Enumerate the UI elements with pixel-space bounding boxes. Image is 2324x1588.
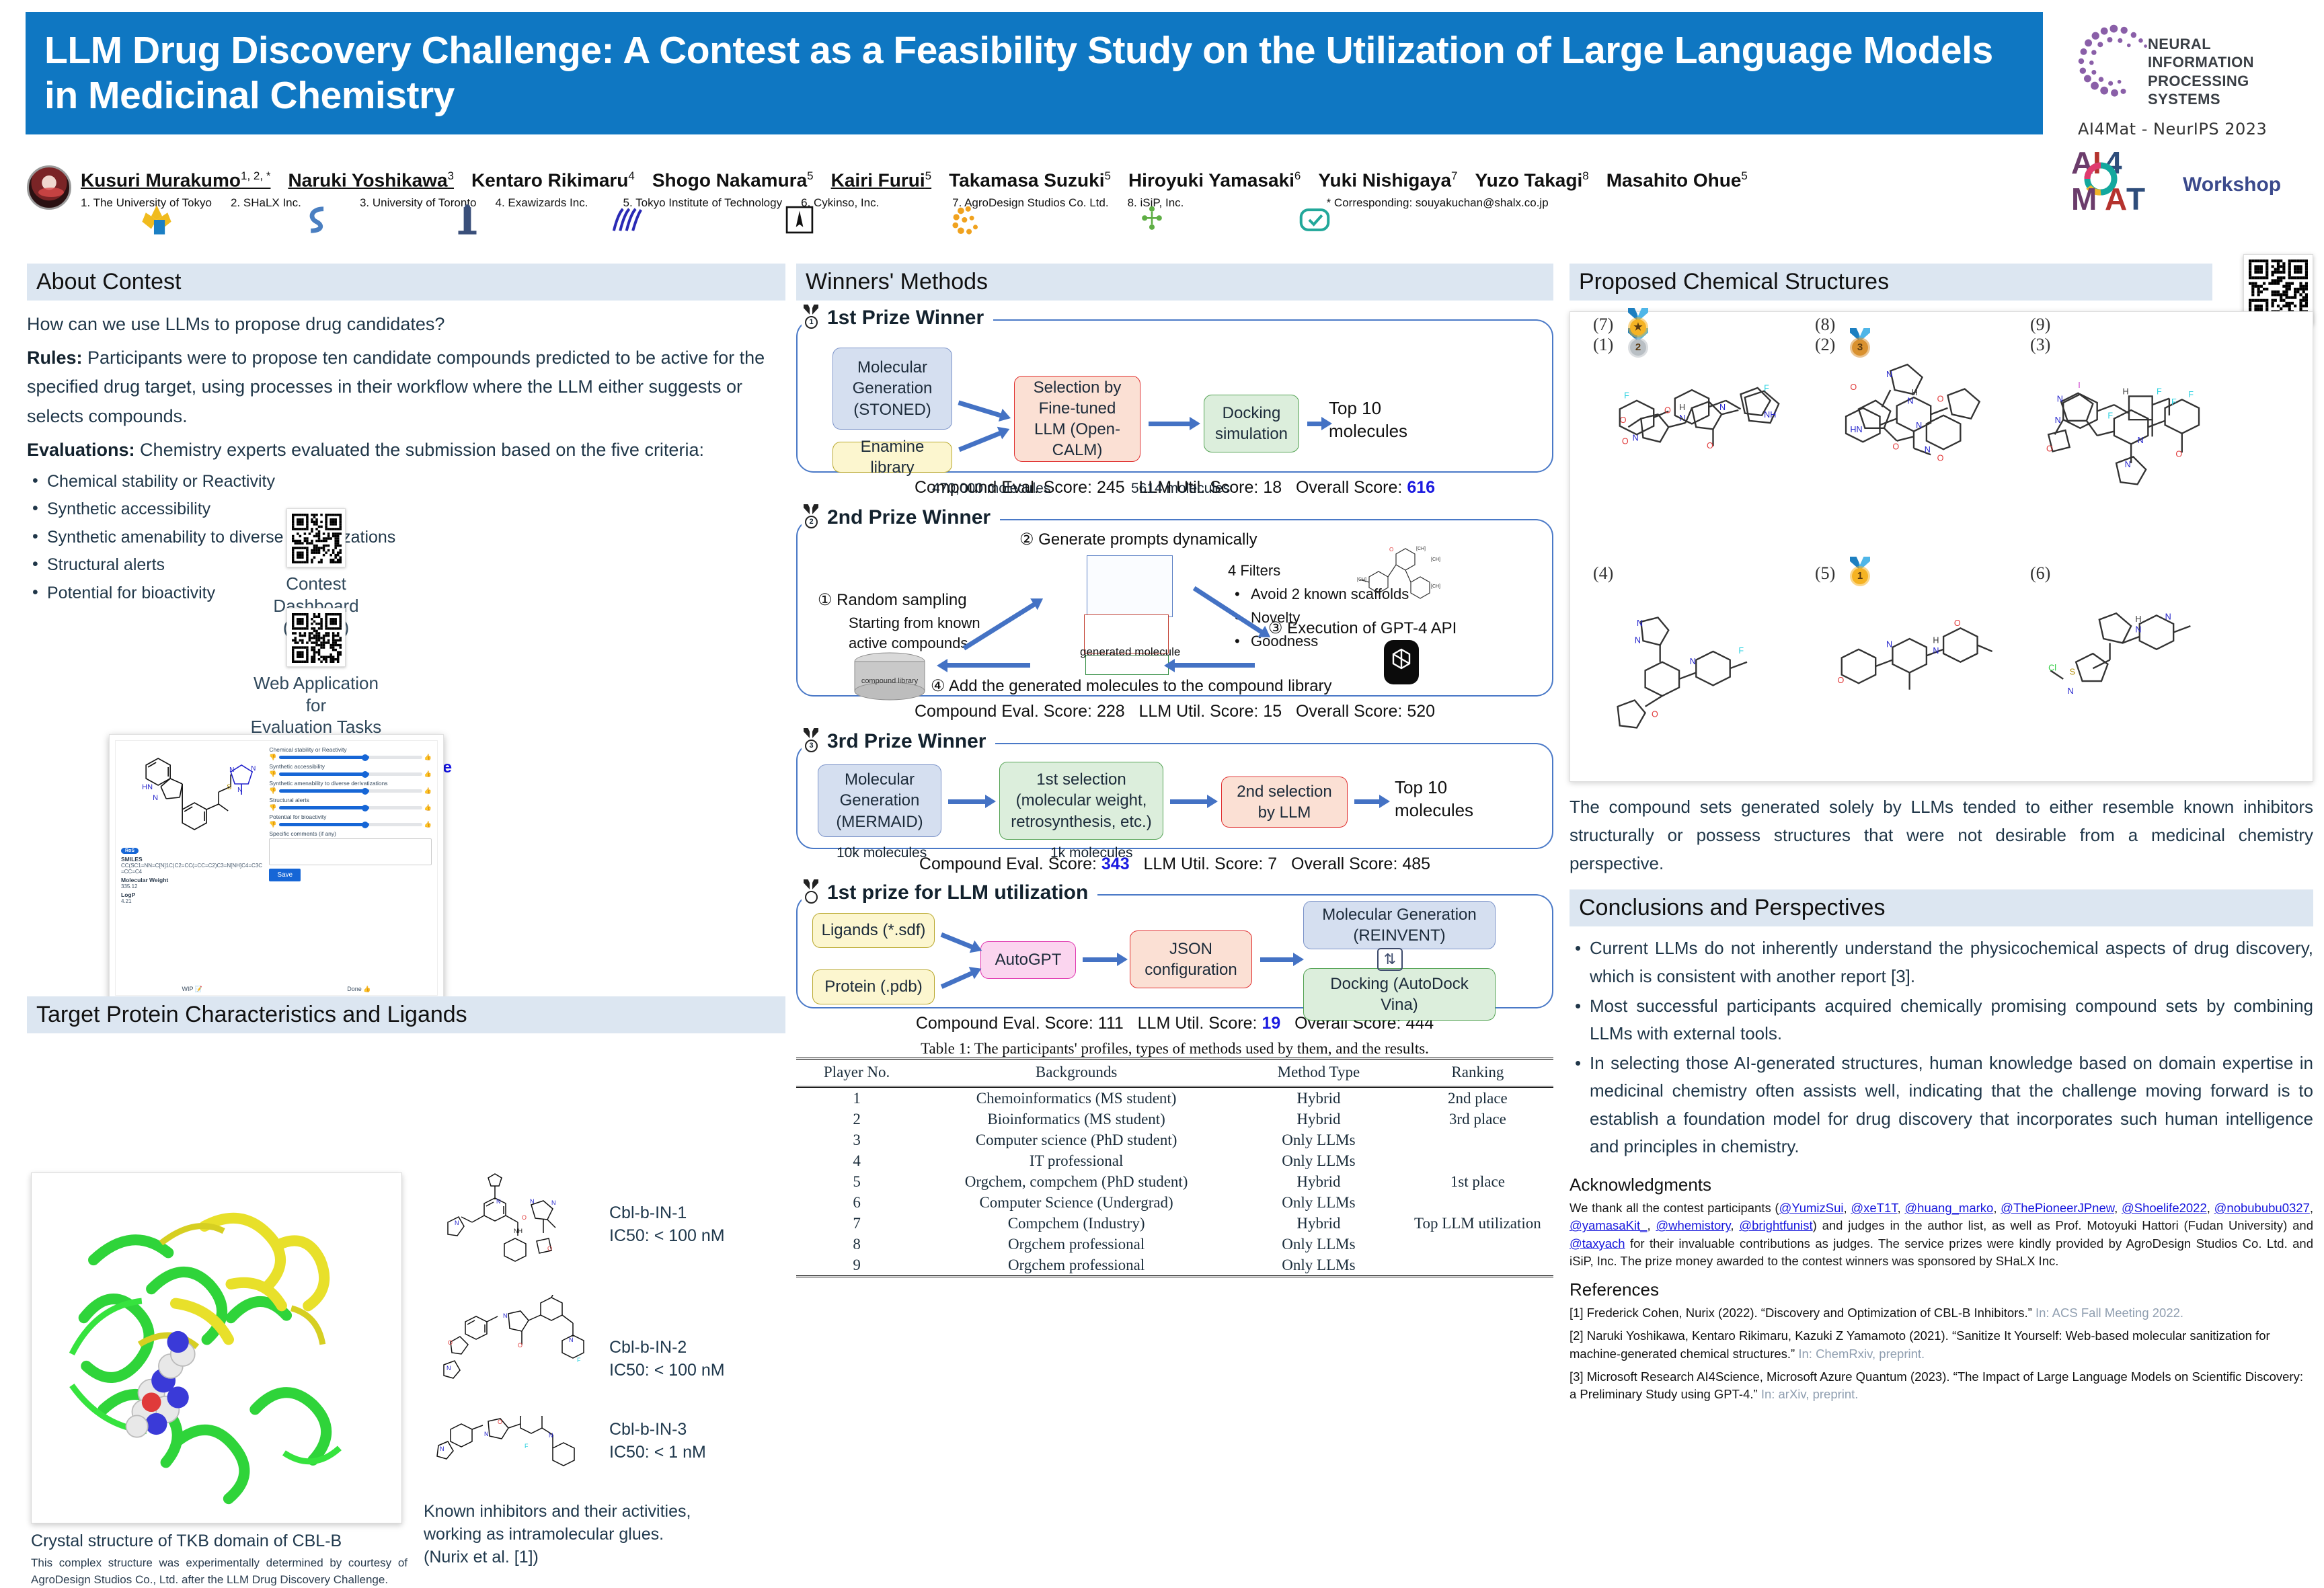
table-cell: 1: [796, 1087, 917, 1109]
qr2-caption-line1: Web Application for: [249, 672, 383, 716]
ligand-2-label: Cbl-b-IN-2IC50: < 100 nM: [609, 1337, 725, 1382]
third-prize-title: 3rd Prize Winner: [827, 730, 986, 753]
structure-label: (8): [1815, 315, 1835, 335]
exawizards-logo-icon: [607, 202, 643, 238]
table-cell: [1402, 1150, 1553, 1171]
svg-text:O: O: [448, 1339, 453, 1346]
table-caption: Table 1: The participants' profiles, typ…: [796, 1040, 1553, 1058]
table-cell: [1402, 1192, 1553, 1213]
table-column-header: Player No.: [796, 1059, 917, 1087]
flow-enamine-library: Enamine library: [832, 442, 952, 473]
agrodesign-logo-icon: [1134, 202, 1170, 238]
svg-text:M: M: [2071, 182, 2097, 216]
author-name: Shogo Nakamura5: [652, 169, 814, 191]
criterion-item: Synthetic amenability to diverse derivat…: [27, 524, 785, 552]
table-cell: Orgchem professional: [917, 1234, 1235, 1255]
table-cell: 3rd place: [1402, 1109, 1553, 1129]
table-cell: 2: [796, 1109, 917, 1129]
workshop-line: AI4Mat - NeurIPS 2023: [2078, 120, 2267, 138]
generated-molecule-label: generated molecule: [1080, 645, 1180, 659]
evaluation-app-screenshot: HN N S N N N RoS SMILES CC(SC1=NN=C[N]1C…: [109, 734, 444, 1002]
svg-text:N: N: [1633, 434, 1639, 443]
table-cell: Only LLMs: [1235, 1192, 1402, 1213]
proposed-structures-grid: (1)2 O O H N O N F(2)3 H N O N O(3) N N …: [1570, 311, 2313, 782]
flow-molecular-generation: Molecular Generation (STONED): [832, 348, 952, 430]
svg-text:HN: HN: [142, 783, 153, 791]
svg-text:N: N: [153, 794, 158, 802]
protein-caption-title: Crystal structure of TKB domain of CBL-B: [31, 1532, 408, 1551]
table-cell: 7: [796, 1213, 917, 1234]
svg-text:N: N: [1933, 646, 1939, 656]
svg-text:compound library: compound library: [861, 677, 919, 685]
table-cell: Top LLM utilization: [1402, 1213, 1553, 1234]
table-cell: Computer science (PhD student): [917, 1129, 1235, 1150]
smiles-value: CC(SC1=NN=C[N]1C)C2=CC(=CC=C2)C3=N[NH]C4…: [121, 863, 265, 875]
twitter-handle[interactable]: @YumizSui: [1779, 1201, 1844, 1215]
wip-action[interactable]: WIP 📝: [182, 986, 203, 993]
svg-text:NH: NH: [1764, 410, 1776, 420]
table-cell: Bioinformatics (MS student): [917, 1109, 1235, 1129]
structure-depiction: N H N O O: [1831, 597, 2011, 756]
thumbs-down-icon: 👎: [269, 770, 276, 778]
twitter-handle[interactable]: @xeT1T: [1851, 1201, 1897, 1215]
thumbs-up-icon: 👍: [424, 787, 432, 795]
neurips-logo-text: NEURAL INFORMATIONPROCESSING SYSTEMS: [2148, 35, 2315, 108]
structure-label: (9): [2030, 315, 2050, 335]
table-row: 3Computer science (PhD student)Only LLMs: [796, 1129, 1553, 1150]
criterion-label: Potential for bioactivity: [269, 813, 432, 820]
table-row: 7Compchem (Industry)HybridTop LLM utiliz…: [796, 1213, 1553, 1234]
criterion-item: Structural alerts: [27, 551, 785, 580]
rating-slider[interactable]: 👎👍: [269, 822, 432, 827]
table-cell: 6: [796, 1192, 917, 1213]
table-cell: Chemoinformatics (MS student): [917, 1087, 1235, 1109]
table-cell: [1402, 1234, 1553, 1255]
structure-depiction: O N F NH: [1609, 348, 1789, 507]
third-prize-block: 3 3rd Prize Winner Molecular Generation …: [796, 728, 1553, 874]
first-note-left: 470,000 molecules: [932, 481, 1050, 497]
structure-depiction: N N N F O: [1609, 597, 1789, 756]
page-title: LLM Drug Discovery Challenge: A Contest …: [44, 28, 2024, 118]
author-name: Naruki Yoshikawa3: [288, 169, 454, 191]
author-name: Masahito Ohue5: [1606, 169, 1748, 191]
filters-title: 4 Filters: [1228, 562, 1280, 580]
webapp-qr[interactable]: [286, 608, 346, 667]
step-1-subtext: Starting from knownactive compounds: [849, 613, 980, 653]
table-cell: 2nd place: [1402, 1087, 1553, 1109]
svg-text:HN: HN: [1850, 425, 1862, 434]
table-cell: [1402, 1129, 1553, 1150]
titech-logo-icon: [781, 202, 818, 238]
svg-text:H: H: [2123, 387, 2129, 396]
svg-text:O: O: [547, 1245, 552, 1252]
third-note-left: 10k molecules: [837, 845, 927, 861]
svg-text:O: O: [1837, 676, 1844, 685]
table-row: 6Computer Science (Undergrad)Only LLMs: [796, 1192, 1553, 1213]
cycle-icon: ⇅: [1377, 948, 1403, 971]
criterion-item: Chemical stability or Reactivity: [27, 468, 785, 496]
conclusion-item: In selecting those AI-generated structur…: [1570, 1049, 2313, 1161]
structures-heading: Proposed Chemical Structures: [1570, 264, 2212, 301]
ligand-1-label: Cbl-b-IN-1IC50: < 100 nM: [609, 1202, 725, 1248]
table-cell: Compchem (Industry): [917, 1213, 1235, 1234]
workshop-label: Workshop: [2183, 173, 2281, 196]
svg-text:N: N: [549, 1432, 553, 1439]
ligand-1-structure: N NH O N N O N: [424, 1171, 592, 1291]
table-row: 1Chemoinformatics (MS student)Hybrid2nd …: [796, 1087, 1553, 1109]
svg-text:N: N: [1635, 635, 1641, 645]
about-question: How can we use LLMs to propose drug cand…: [27, 310, 785, 340]
svg-text:N: N: [1916, 421, 1922, 430]
ros-badge: RoS: [121, 848, 139, 854]
svg-text:N: N: [1690, 657, 1696, 666]
table-cell: Orgchem professional: [917, 1255, 1235, 1277]
rating-slider[interactable]: 👎👍: [269, 772, 432, 777]
comments-label: Specific comments (if any): [269, 830, 432, 837]
avatar: [27, 165, 71, 210]
thumbs-down-icon: 👎: [269, 821, 276, 828]
molecule-depiction: HN N S N N N: [121, 745, 265, 847]
svg-text:N: N: [496, 1198, 501, 1205]
step-2-label: ② Generate prompts dynamically: [1019, 530, 1257, 549]
structure-cell: (6) Cl S N H N N: [2027, 561, 2236, 783]
affiliation-logos: [81, 202, 2031, 242]
svg-text:N: N: [503, 1312, 508, 1319]
table-cell: Hybrid: [1235, 1109, 1402, 1129]
second-prize-title: 2nd Prize Winner: [827, 506, 991, 529]
table-row: 5Orgchem, compchem (PhD student)Hybrid1s…: [796, 1171, 1553, 1192]
svg-text:[CH]: [CH]: [1357, 578, 1366, 582]
reference-venue: In: ACS Fall Meeting 2022.: [2036, 1306, 2183, 1320]
twitter-handle[interactable]: @brightfunist: [1739, 1218, 1812, 1232]
svg-text:F: F: [525, 1443, 529, 1450]
participants-table-block: Table 1: The participants' profiles, typ…: [796, 1040, 1553, 1277]
flow-output: Top 10 molecules: [1395, 777, 1502, 822]
shalx-logo-icon: [300, 202, 336, 238]
table-cell: 9: [796, 1255, 917, 1277]
table-cell: Only LLMs: [1235, 1150, 1402, 1171]
ligand-caption: Known inhibitors and their activities, w…: [424, 1501, 787, 1569]
svg-text:[CH]: [CH]: [1416, 547, 1426, 551]
rating-slider[interactable]: 👎👍: [269, 789, 432, 793]
neurips-dots-icon: [2073, 22, 2152, 101]
svg-text:A: A: [2105, 182, 2127, 216]
svg-text:N: N: [1886, 370, 1892, 379]
svg-text:I: I: [2078, 381, 2081, 390]
flow-autogpt: AutoGPT: [980, 941, 1076, 979]
thumbs-up-icon: 👍: [424, 821, 432, 828]
table-row: 4IT professionalOnly LLMs: [796, 1150, 1553, 1171]
save-button[interactable]: Save: [269, 869, 301, 881]
svg-text:S: S: [2070, 668, 2075, 677]
flow-docking: Docking simulation: [1204, 395, 1299, 452]
second-prize-title-row: 2 2nd Prize Winner: [802, 504, 1000, 531]
medal-icon: [802, 879, 820, 906]
conclusion-item: Most successful participants acquired ch…: [1570, 992, 2313, 1048]
svg-text:N: N: [2135, 625, 2141, 635]
table-cell: Computer Science (Undergrad): [917, 1192, 1235, 1213]
ai4mat-logo-icon: A I 4 M A T: [2070, 143, 2151, 216]
twitter-handle[interactable]: @huang_marko: [1904, 1201, 1993, 1215]
ligand-3-structure: O N N N F: [424, 1416, 592, 1495]
svg-text:O: O: [1850, 383, 1857, 392]
logp-label: LogP: [121, 891, 265, 898]
author-name: Takamasa Suzuki5: [949, 169, 1111, 191]
flow-output: Top 10 molecules: [1329, 397, 1443, 443]
svg-text:N: N: [229, 766, 234, 774]
openai-logo-icon: [1380, 639, 1423, 687]
table-cell: 8: [796, 1234, 917, 1255]
table-row: 9Orgchem professionalOnly LLMs: [796, 1255, 1553, 1277]
thumbs-up-icon: 👍: [424, 804, 432, 811]
first-prize-block: 1 1st Prize Winner Molecular Generation …: [796, 305, 1553, 498]
third-note-right: 1k molecules: [1050, 845, 1133, 861]
author-name: Hiroyuki Yamasaki6: [1128, 169, 1301, 191]
structure-cell: (5)1 N H N O O: [1812, 561, 2021, 783]
about-evaluations: Evaluations: Chemistry experts evaluated…: [27, 436, 785, 465]
rating-slider[interactable]: 👎👍: [269, 805, 432, 810]
criteria-list: Chemical stability or ReactivitySyntheti…: [27, 468, 785, 608]
llm-prize-title-row: 1st prize for LLM utilization: [802, 879, 1097, 906]
references-list: [1] Frederick Cohen, Nurix (2022). “Disc…: [1570, 1304, 2313, 1403]
svg-text:O: O: [1892, 442, 1899, 451]
known-ligands: N NH O N N O N Cbl-b-IN-1IC50: < 100 nM: [424, 1171, 787, 1564]
twitter-handle[interactable]: @ThePioneerJPnew: [2001, 1201, 2114, 1215]
structures-note: The compound sets generated solely by LL…: [1570, 793, 2313, 877]
table-cell: Hybrid: [1235, 1171, 1402, 1192]
acknowledgments-heading: Acknowledgments: [1570, 1175, 2313, 1195]
thumbs-down-icon: 👎: [269, 804, 276, 811]
flow-ligands: Ligands (*.sdf): [812, 913, 935, 948]
flow-first-selection: 1st selection (molecular weight, retrosy…: [999, 762, 1163, 840]
flow-autodock: Docking (AutoDock Vina): [1303, 968, 1496, 1021]
table-cell: Hybrid: [1235, 1213, 1402, 1234]
isip-logo-icon: [1296, 202, 1333, 238]
third-prize-title-row: 3 3rd Prize Winner: [802, 728, 995, 755]
criterion-label: Chemical stability or Reactivity: [269, 746, 432, 753]
llm-prize-diagram: Ligands (*.sdf) Protein (.pdb) AutoGPT J…: [796, 894, 1553, 1008]
flow-reinvent: Molecular Generation (REINVENT): [1303, 901, 1496, 949]
svg-text:T: T: [2126, 182, 2145, 216]
third-prize-diagram: Molecular Generation (MERMAID) 1st selec…: [796, 743, 1553, 849]
twitter-handle[interactable]: @Shoelife2022: [2122, 1201, 2207, 1215]
cykinso-logo-icon: [948, 202, 984, 238]
second-prize-block: 2 2nd Prize Winner ② Generate prompts dy…: [796, 504, 1553, 721]
svg-text:N: N: [440, 1445, 444, 1452]
conclusions-list: Current LLMs do not inherently understan…: [1570, 935, 2313, 1161]
table-column-header: Backgrounds: [917, 1059, 1235, 1087]
rank-medal-icon: 1: [1849, 557, 1871, 589]
author-name: Yuki Nishigaya7: [1318, 169, 1457, 191]
flow-second-selection: 2nd selection by LLM: [1221, 777, 1348, 828]
done-action[interactable]: Done 👍: [347, 986, 371, 993]
eval-text: Chemistry experts evaluated the submissi…: [135, 440, 704, 460]
table-cell: Only LLMs: [1235, 1255, 1402, 1277]
svg-text:[CH]: [CH]: [1431, 557, 1440, 562]
mw-label: Molecular Weight: [121, 877, 265, 883]
svg-text:[CH]: [CH]: [1431, 584, 1440, 589]
table-column-header: Ranking: [1402, 1059, 1553, 1087]
svg-text:N: N: [2165, 612, 2171, 622]
target-protein-heading: Target Protein Characteristics and Ligan…: [27, 996, 785, 1033]
author-name: Kentaro Rikimaru4: [471, 169, 635, 191]
first-prize-diagram: Molecular Generation (STONED) Enamine li…: [796, 319, 1553, 473]
reference-item: [3] Microsoft Research AI4Science, Micro…: [1570, 1368, 2313, 1404]
reference-venue: In: arXiv, preprint.: [1761, 1387, 1859, 1401]
second-prize-diagram: ② Generate prompts dynamically ① Random …: [796, 519, 1553, 697]
structure-depiction: I H F F O N: [2046, 348, 2226, 507]
table-cell: Only LLMs: [1235, 1234, 1402, 1255]
structure-label: (6): [2030, 563, 2050, 584]
svg-text:O: O: [498, 1419, 502, 1425]
protein-structure-image: [31, 1173, 402, 1523]
flow-protein: Protein (.pdb): [812, 969, 935, 1004]
table-cell: 5: [796, 1171, 917, 1192]
table-cell: Only LLMs: [1235, 1129, 1402, 1150]
table-row: 8Orgchem professionalOnly LLMs: [796, 1234, 1553, 1255]
thumbs-up-icon: 👍: [424, 754, 432, 761]
step-1-label: ① Random sampling: [818, 590, 967, 610]
reference-item: [1] Frederick Cohen, Nurix (2022). “Disc…: [1570, 1304, 2313, 1322]
table-row: 2Bioinformatics (MS student)Hybrid3rd pl…: [796, 1109, 1553, 1129]
criterion-label: Synthetic amenability to diverse derivat…: [269, 780, 432, 787]
svg-text:O: O: [1389, 547, 1393, 553]
poster-title-bar: LLM Drug Discovery Challenge: A Contest …: [26, 12, 2043, 134]
llm-utilization-block: 1st prize for LLM utilization Ligands (*…: [796, 879, 1553, 1033]
step-3-label: ③ Execution of GPT-4 API: [1268, 619, 1457, 638]
criterion-label: Synthetic accessibility: [269, 763, 432, 770]
svg-text:NH: NH: [514, 1228, 522, 1234]
winners-methods-heading: Winners' Methods: [796, 264, 1553, 301]
structure-cell: (8) O N HN O N: [1812, 312, 2021, 534]
neurips-logo: NEURAL INFORMATIONPROCESSING SYSTEMS: [2073, 19, 2315, 105]
ligand-2-structure: N O F O N N F: [424, 1295, 592, 1412]
eval-label: Evaluations:: [27, 440, 135, 460]
svg-text:O: O: [522, 1214, 527, 1221]
ligand-3-label: Cbl-b-IN-3IC50: < 1 nM: [609, 1419, 706, 1464]
table-cell: Hybrid: [1235, 1087, 1402, 1109]
criterion-item: Synthetic accessibility: [27, 495, 785, 524]
svg-text:N: N: [237, 787, 242, 794]
structure-depiction: O N HN O N: [1831, 348, 2011, 507]
participants-table: Player No.BackgroundsMethod TypeRanking …: [796, 1058, 1553, 1277]
utokyo-logo-icon: [139, 202, 175, 238]
comments-textarea[interactable]: [269, 838, 432, 865]
svg-text:H: H: [1933, 635, 1939, 645]
compound-library-database-icon: compound library: [850, 652, 929, 702]
protein-caption-body: This complex structure was experimentall…: [31, 1555, 408, 1588]
svg-text:F: F: [577, 1357, 581, 1363]
svg-text:O: O: [518, 1342, 522, 1349]
svg-text:O: O: [2046, 444, 2053, 453]
structure-label: (5): [1815, 563, 1835, 584]
twitter-handle[interactable]: @yamasaKit_: [1570, 1218, 1647, 1232]
twitter-handle[interactable]: @taxyach: [1570, 1236, 1625, 1250]
svg-text:N: N: [2068, 686, 2074, 696]
first-note-right: 5614 molecules: [1131, 481, 1230, 497]
rank-medal-icon: ★: [1627, 308, 1650, 340]
svg-text:N: N: [251, 765, 256, 772]
conclusions-heading: Conclusions and Perspectives: [1570, 889, 2313, 926]
conclusion-item: Current LLMs do not inherently understan…: [1570, 935, 2313, 990]
criterion-item: Potential for bioactivity: [27, 580, 785, 608]
structure-label: (7): [1593, 315, 1613, 335]
structure-cell: (4) N N N F O: [1590, 561, 1799, 783]
table-cell: [1402, 1255, 1553, 1277]
second-prize-scores: Compound Eval. Score: 228 LLM Util. Scor…: [796, 702, 1553, 721]
thumbs-down-icon: 👎: [269, 787, 276, 795]
svg-text:F: F: [2171, 397, 2177, 407]
step-4-label: ④ Add the generated molecules to the com…: [931, 676, 1332, 696]
structure-cell: (9) I H F F O N: [2027, 312, 2236, 534]
structure-cell: (7)★ O N F NH: [1590, 312, 1799, 534]
twitter-handle[interactable]: @whemistory: [1656, 1218, 1730, 1232]
twitter-handle[interactable]: @nobububu0327: [2214, 1201, 2310, 1215]
svg-text:N: N: [1886, 640, 1892, 649]
flow-json-config: JSON configuration: [1130, 930, 1252, 988]
svg-text:N: N: [1637, 619, 1643, 628]
table-cell: Orgchem, compchem (PhD student): [917, 1171, 1235, 1192]
svg-text:O: O: [1664, 406, 1671, 415]
prompt-card-blue: [1087, 555, 1173, 617]
structure-label: (4): [1593, 563, 1613, 584]
svg-text:N: N: [447, 1365, 451, 1372]
reference-venue: In: ChemRxiv, preprint.: [1798, 1347, 1925, 1361]
svg-text:N: N: [484, 1431, 489, 1437]
table-cell: 1st place: [1402, 1171, 1553, 1192]
rules-text: Participants were to propose ten candida…: [27, 348, 765, 426]
medal-icon: 3: [802, 728, 820, 755]
svg-text:N: N: [569, 1337, 574, 1343]
criterion-label: Structural alerts: [269, 797, 432, 803]
svg-text:F: F: [1624, 391, 1629, 401]
svg-text:O: O: [1954, 619, 1961, 628]
svg-text:N: N: [2138, 436, 2144, 445]
first-prize-title: 1st Prize Winner: [827, 307, 984, 329]
smiles-label: SMILES: [121, 856, 265, 863]
author-name: Yuzo Takagi8: [1475, 169, 1589, 191]
svg-text:F: F: [1738, 646, 1744, 656]
medal-icon: 1: [802, 305, 820, 331]
structure-depiction: Cl S N H N N: [2046, 597, 2226, 756]
llm-prize-title: 1st prize for LLM utilization: [827, 881, 1088, 904]
table-cell: IT professional: [917, 1150, 1235, 1171]
about-rules: Rules: Participants were to propose ten …: [27, 344, 785, 432]
uoft-logo-icon: [449, 202, 486, 238]
rating-slider[interactable]: 👎👍: [269, 755, 432, 760]
contest-dashboard-qr[interactable]: [286, 508, 346, 567]
author-name: Kusuri Murakumo1, 2, *: [81, 169, 270, 191]
svg-text:S: S: [227, 783, 231, 791]
svg-text:N: N: [455, 1220, 459, 1226]
svg-text:F: F: [2157, 387, 2162, 396]
reference-item: [2] Naruki Yoshikawa, Kentaro Rikimaru, …: [1570, 1327, 2313, 1363]
svg-text:O: O: [1652, 710, 1658, 719]
svg-text:Cl: Cl: [2048, 663, 2056, 672]
rules-label: Rules:: [27, 348, 83, 368]
svg-text:H: H: [2135, 614, 2141, 624]
thumbs-up-icon: 👍: [424, 770, 432, 778]
first-prize-title-row: 1 1st Prize Winner: [802, 305, 993, 331]
svg-text:N: N: [551, 1199, 556, 1206]
about-contest-heading: About Contest: [27, 264, 785, 301]
evaluation-sliders[interactable]: Chemical stability or Reactivity👎👍Synthe…: [269, 745, 432, 991]
references-heading: References: [1570, 1279, 2313, 1300]
logp-value: 4.21: [121, 898, 265, 904]
generated-structure-thumb: O [CH] [CH] [CH] [CH]: [1349, 541, 1443, 628]
flow-molecular-generation-mermaid: Molecular Generation (MERMAID): [818, 764, 941, 837]
svg-text:N: N: [530, 1198, 535, 1205]
